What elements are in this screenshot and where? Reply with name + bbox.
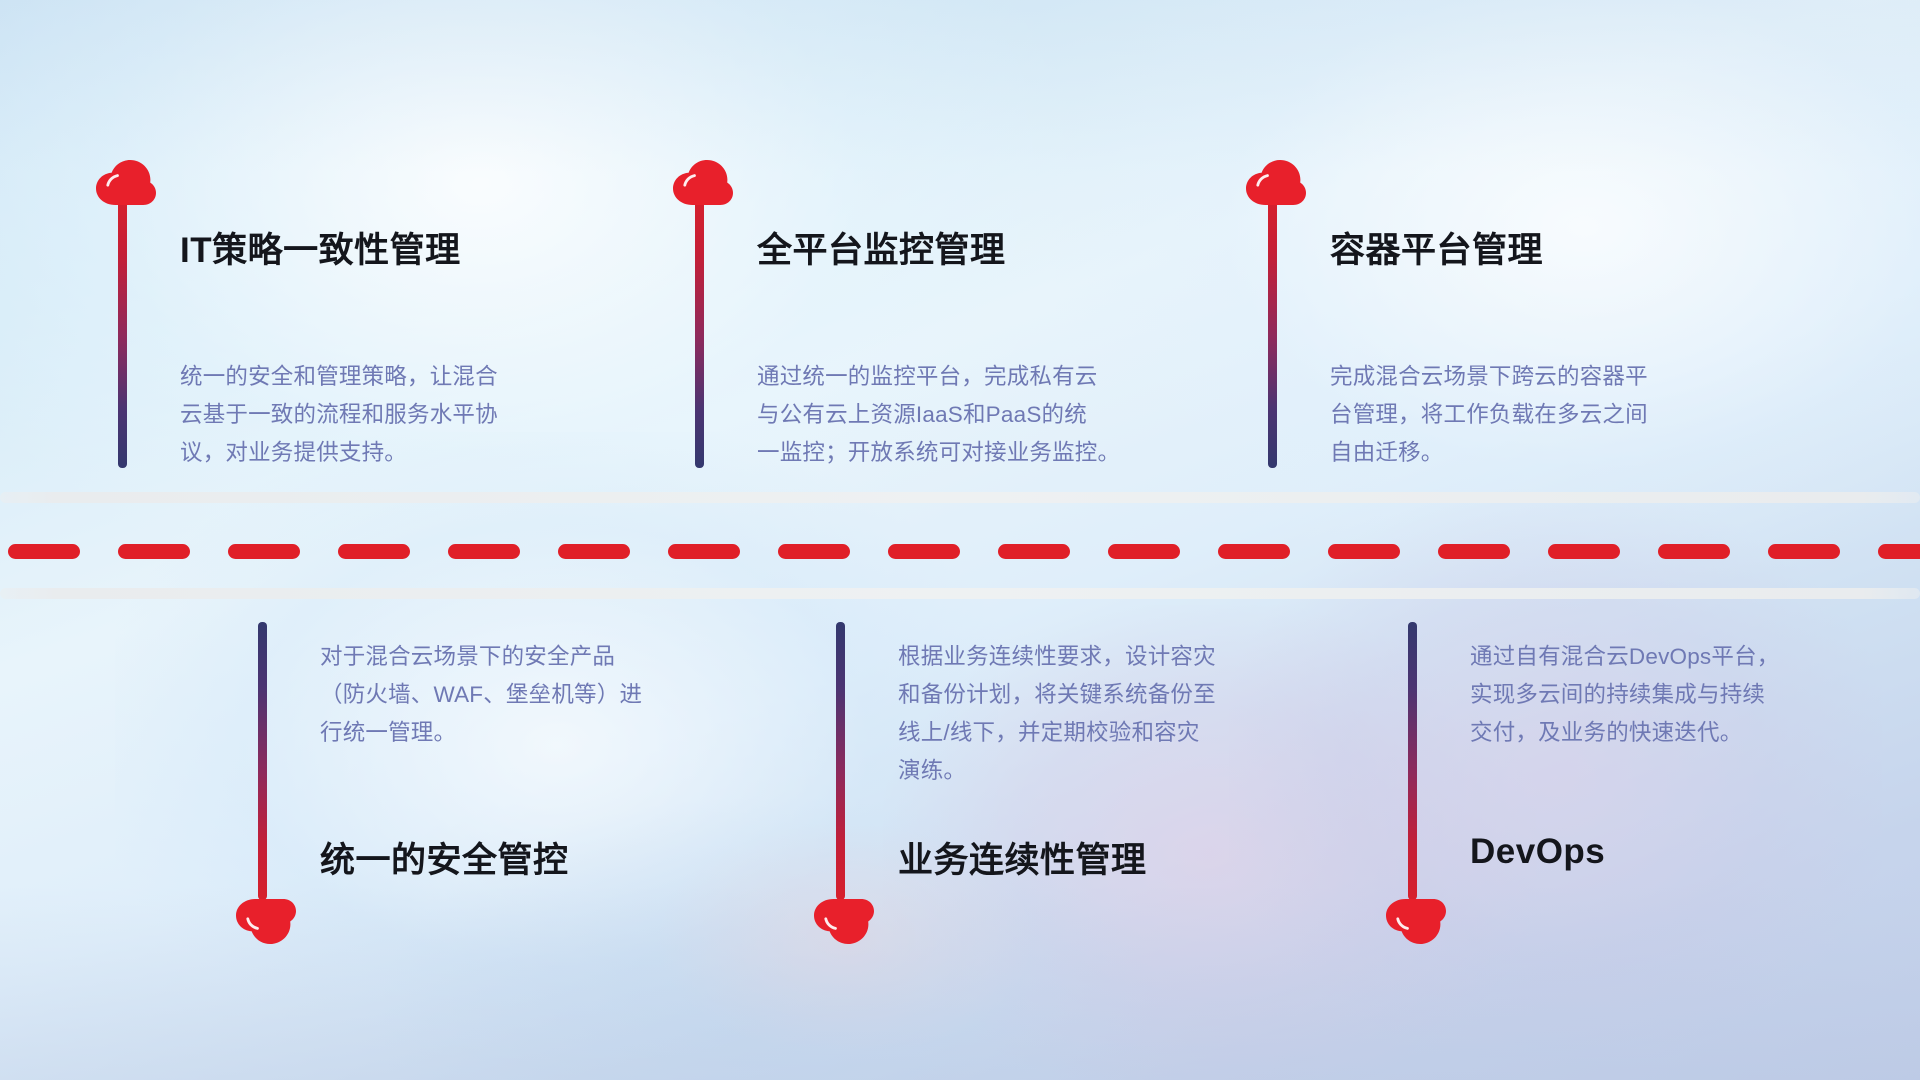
road-dash-segment <box>8 544 80 559</box>
cloud-icon <box>1245 160 1307 206</box>
road-dash-segment <box>448 544 520 559</box>
body-bottom-2: 根据业务连续性要求，设计容灾 和备份计划，将关键系统备份至 线上/线下，并定期校… <box>898 638 1338 790</box>
road-dash-segment <box>778 544 850 559</box>
road-dash-segment <box>338 544 410 559</box>
marker-stem <box>1408 622 1417 900</box>
road-edge-top <box>0 492 1920 503</box>
heading-bottom-2: 业务连续性管理 <box>898 832 1147 883</box>
cloud-icon <box>672 160 734 206</box>
body-bottom-3: 通过自有混合云DevOps平台， 实现多云间的持续集成与持续 交付，及业务的快速… <box>1470 638 1890 752</box>
road-dash-segment <box>1768 544 1840 559</box>
road-dash-segment <box>1878 544 1920 559</box>
road-dash-segment <box>118 544 190 559</box>
road-dash-segment <box>558 544 630 559</box>
road-dash-segment <box>1108 544 1180 559</box>
cloud-icon <box>235 898 297 944</box>
body-top-2: 通过统一的监控平台，完成私有云 与公有云上资源IaaS和PaaS的统 一监控；开… <box>757 358 1207 472</box>
road-dash-segment <box>1658 544 1730 559</box>
road-edge-bottom <box>0 588 1920 599</box>
marker-stem <box>118 196 127 468</box>
heading-bottom-1: 统一的安全管控 <box>320 832 569 883</box>
road-center-dashes <box>0 544 1920 559</box>
marker-stem <box>836 622 845 900</box>
road-dash-segment <box>1328 544 1400 559</box>
road-dash-segment <box>1548 544 1620 559</box>
road-dash-segment <box>998 544 1070 559</box>
heading-bottom-3: DevOps <box>1470 832 1605 872</box>
road-dash-segment <box>1218 544 1290 559</box>
road-dash-segment <box>888 544 960 559</box>
road-dash-segment <box>228 544 300 559</box>
body-bottom-1: 对于混合云场景下的安全产品 （防火墙、WAF、堡垒机等）进 行统一管理。 <box>320 638 750 752</box>
cloud-icon <box>813 898 875 944</box>
marker-stem <box>695 196 704 468</box>
road-dash-segment <box>668 544 740 559</box>
marker-stem <box>1268 196 1277 468</box>
marker-stem <box>258 622 267 900</box>
road-dash-segment <box>1438 544 1510 559</box>
heading-top-2: 全平台监控管理 <box>757 222 1006 273</box>
cloud-icon <box>1385 898 1447 944</box>
infographic-canvas: IT策略一致性管理 统一的安全和管理策略，让混合 云基于一致的流程和服务水平协 … <box>0 0 1920 1080</box>
body-top-3: 完成混合云场景下跨云的容器平 台管理，将工作负载在多云之间 自由迁移。 <box>1330 358 1760 472</box>
body-top-1: 统一的安全和管理策略，让混合 云基于一致的流程和服务水平协 议，对业务提供支持。 <box>180 358 610 472</box>
heading-top-3: 容器平台管理 <box>1330 222 1543 273</box>
heading-top-1: IT策略一致性管理 <box>180 222 461 273</box>
cloud-icon <box>95 160 157 206</box>
